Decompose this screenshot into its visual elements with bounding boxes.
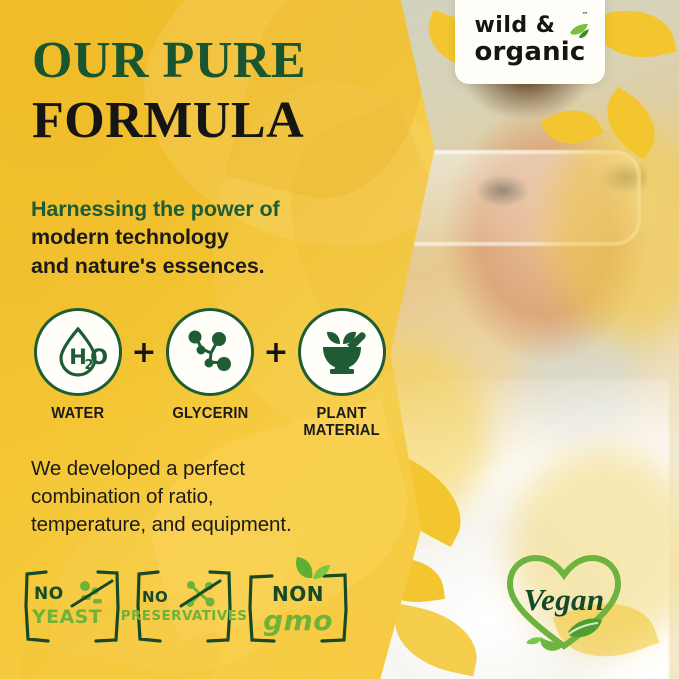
badge-non-gmo: NON gmo: [246, 568, 350, 644]
product-infographic: wild & organic ™ OUR PURE FORMULA Harnes…: [0, 0, 679, 679]
logo-line2: organic: [474, 39, 585, 65]
brand-logo[interactable]: wild & organic ™: [455, 0, 605, 84]
badge-bottom-label: PRESERVATIVES: [121, 608, 248, 624]
lead-line1: Harnessing the power of: [31, 195, 376, 223]
ingredient-water: H 2 O WATER: [30, 308, 126, 422]
leaf-icon: [568, 23, 590, 39]
lead-line2: modern technology: [31, 223, 376, 251]
ingredient-plant-material: PLANT MATERIAL: [294, 308, 390, 440]
ingredient-label-line2: MATERIAL: [304, 422, 380, 439]
ingredient-label: GLYCERIN: [172, 405, 248, 422]
lead-line3: and nature's essences.: [31, 252, 376, 280]
plus-symbol: +: [126, 308, 162, 396]
water-drop-h2o-icon: H 2 O: [34, 308, 122, 396]
ingredient-label: WATER: [52, 405, 105, 422]
molecule-icon: [166, 308, 254, 396]
plus-symbol: +: [258, 308, 294, 396]
badge-text: NO YEAST: [22, 568, 122, 644]
lead-paragraph: Harnessing the power of modern technolog…: [31, 195, 376, 280]
body-line2: combination of ratio,: [31, 483, 381, 511]
page-title-line1: OUR PURE: [32, 34, 306, 89]
badge-text: NO PRESERVATIVES: [134, 568, 234, 644]
ingredient-label: PLANT MATERIAL: [304, 405, 380, 440]
badge-no-preservatives: NO PRESERVATIVES: [134, 568, 234, 644]
body-paragraph: We developed a perfect combination of ra…: [31, 455, 381, 539]
badge-top-label: NON: [272, 582, 324, 606]
ingredient-glycerin: GLYCERIN: [162, 308, 258, 422]
page-title-line2: FORMULA: [32, 94, 304, 149]
claim-badges: NO YEAST: [22, 568, 350, 644]
body-line1: We developed a perfect: [31, 455, 381, 483]
ingredient-label-line1: PLANT: [317, 405, 367, 422]
badge-bottom-label: gmo: [263, 604, 333, 637]
badge-text: NON gmo: [246, 568, 350, 644]
body-line3: temperature, and equipment.: [31, 511, 381, 539]
mortar-pestle-icon: [298, 308, 386, 396]
trademark-symbol: ™: [582, 11, 589, 19]
vegan-label: Vegan: [512, 582, 616, 618]
logo-inner: wild & organic ™: [474, 1, 585, 65]
badge-no-yeast: NO YEAST: [22, 568, 122, 644]
ingredient-list: H 2 O WATER +: [30, 308, 390, 440]
badge-top-label: NO: [34, 584, 64, 604]
badge-bottom-label: YEAST: [32, 606, 102, 628]
badge-top-label: NO: [142, 588, 168, 606]
vegan-badge: Vegan: [498, 546, 630, 662]
